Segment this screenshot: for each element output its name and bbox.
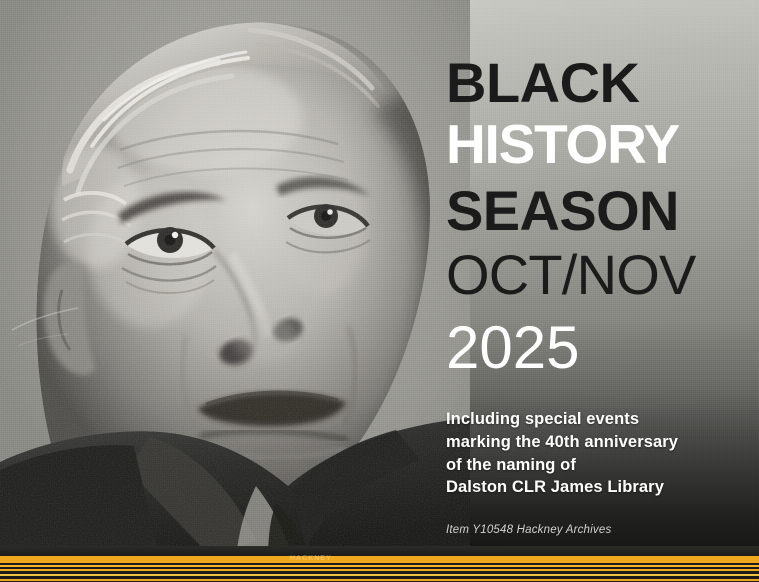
body-copy-line-1: Including special events — [446, 408, 736, 431]
footer-stripe-quinary — [0, 579, 759, 581]
body-copy-line-3: of the naming of — [446, 454, 736, 477]
headline-line-months: OCT/NOV — [446, 247, 696, 303]
footer-stripe-tertiary — [0, 569, 759, 571]
body-copy-line-4: Dalston CLR James Library — [446, 476, 736, 499]
image-credit-line: Item Y10548 Hackney Archives — [446, 524, 611, 536]
headline-line-season: SEASON — [446, 184, 679, 238]
portrait-illustration — [0, 0, 470, 560]
headline-year: 2025 — [446, 318, 579, 378]
headline-line-black: BLACK — [446, 56, 639, 110]
poster-canvas: BLACK HISTORY SEASON OCT/NOV 2025 Includ… — [0, 0, 759, 582]
body-copy-line-2: marking the 40th anniversary — [446, 431, 736, 454]
footer-stripe-bar: HACKNEY — [0, 546, 759, 582]
footer-stripe-quaternary — [0, 574, 759, 576]
footer-ghost-text: HACKNEY — [290, 555, 470, 567]
headline-line-history: HISTORY — [446, 118, 679, 171]
portrait-photograph — [0, 0, 470, 560]
body-copy-block: Including special events marking the 40t… — [446, 408, 736, 499]
